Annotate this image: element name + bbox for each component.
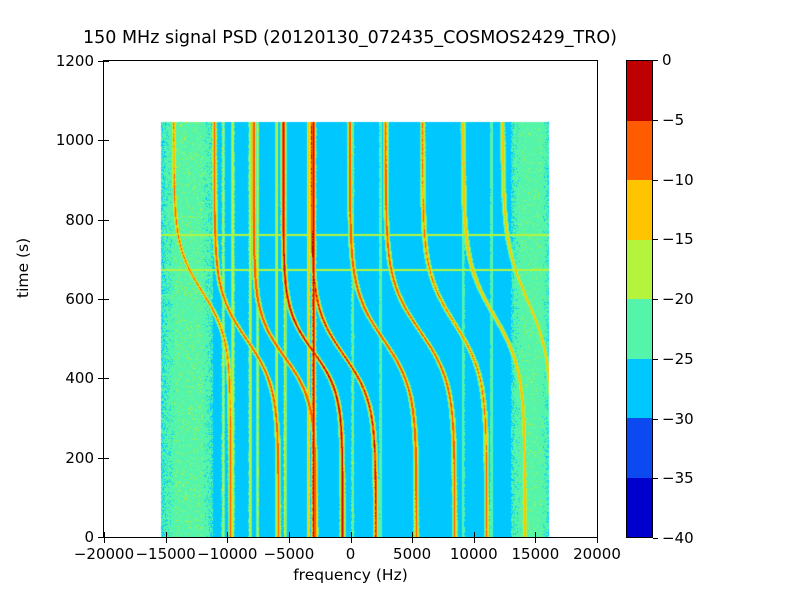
spectrogram-image (104, 61, 597, 537)
x-tick-mark-inner (474, 532, 475, 537)
y-tick-mark-inner (104, 378, 109, 379)
x-tick-mark-inner (597, 532, 598, 537)
colorbar-tick-mark (653, 239, 658, 240)
colorbar-tick-label: −20 (662, 292, 694, 307)
colorbar-tick-label: −30 (662, 412, 694, 427)
x-tick-mark-inner (351, 532, 352, 537)
colorbar-band (627, 359, 652, 419)
colorbar-tick-label: −40 (662, 531, 694, 546)
colorbar-band (627, 180, 652, 240)
colorbar-tick-label: −5 (662, 113, 684, 128)
y-tick-mark-inner (104, 220, 109, 221)
y-axis-label: time (s) (14, 278, 34, 298)
colorbar-tick-mark (653, 120, 658, 121)
plot-axes: 020040060080010001200 −20000−15000−10000… (103, 60, 598, 538)
colorbar-tick-mark (653, 419, 658, 420)
y-axis-label-text: time (s) (14, 238, 32, 298)
colorbar (626, 60, 653, 538)
colorbar-tick-mark (653, 478, 658, 479)
colorbar-tick-label: −10 (662, 173, 694, 188)
x-tick-mark-inner (535, 532, 536, 537)
colorbar-tick-label: −35 (662, 471, 694, 486)
colorbar-tick-mark (653, 60, 658, 61)
y-tick-label: 1200 (4, 54, 94, 69)
colorbar-tick-label: −25 (662, 352, 694, 367)
colorbar-tick-mark (653, 180, 658, 181)
x-tick-mark (289, 537, 290, 543)
colorbar-tick-label: −15 (662, 232, 694, 247)
x-tick-mark (351, 537, 352, 543)
y-tick-label: 200 (4, 451, 94, 466)
y-tick-mark-inner (104, 458, 109, 459)
x-tick-mark-inner (227, 532, 228, 537)
x-tick-mark-inner (412, 532, 413, 537)
x-tick-label: 20000 (537, 547, 657, 562)
colorbar-tick-label: 0 (662, 53, 672, 68)
x-tick-mark-inner (104, 532, 105, 537)
colorbar-band (627, 121, 652, 181)
x-tick-mark-inner (289, 532, 290, 537)
page-title: 150 MHz signal PSD (20120130_072435_COSM… (0, 28, 700, 48)
y-tick-mark-inner (104, 299, 109, 300)
colorbar-tick-mark (653, 299, 658, 300)
y-tick-label: 400 (4, 371, 94, 386)
colorbar-band (627, 418, 652, 478)
y-tick-mark-inner (104, 140, 109, 141)
y-tick-label: 1000 (4, 133, 94, 148)
colorbar-band (627, 478, 652, 538)
y-tick-mark-inner (104, 61, 109, 62)
colorbar-band (627, 299, 652, 359)
x-axis-label: frequency (Hz) (103, 566, 598, 584)
y-tick-label: 800 (4, 213, 94, 228)
x-tick-mark (104, 537, 105, 543)
y-tick-label: 0 (4, 530, 94, 545)
x-tick-mark-inner (166, 532, 167, 537)
x-tick-mark (597, 537, 598, 543)
x-tick-mark (474, 537, 475, 543)
colorbar-band (627, 240, 652, 300)
colorbar-band (627, 61, 652, 121)
x-tick-mark (535, 537, 536, 543)
figure-canvas: 150 MHz signal PSD (20120130_072435_COSM… (0, 0, 800, 600)
colorbar-tick-mark (653, 538, 658, 539)
x-tick-mark (412, 537, 413, 543)
colorbar-tick-mark (653, 359, 658, 360)
x-tick-mark (227, 537, 228, 543)
x-tick-mark (166, 537, 167, 543)
